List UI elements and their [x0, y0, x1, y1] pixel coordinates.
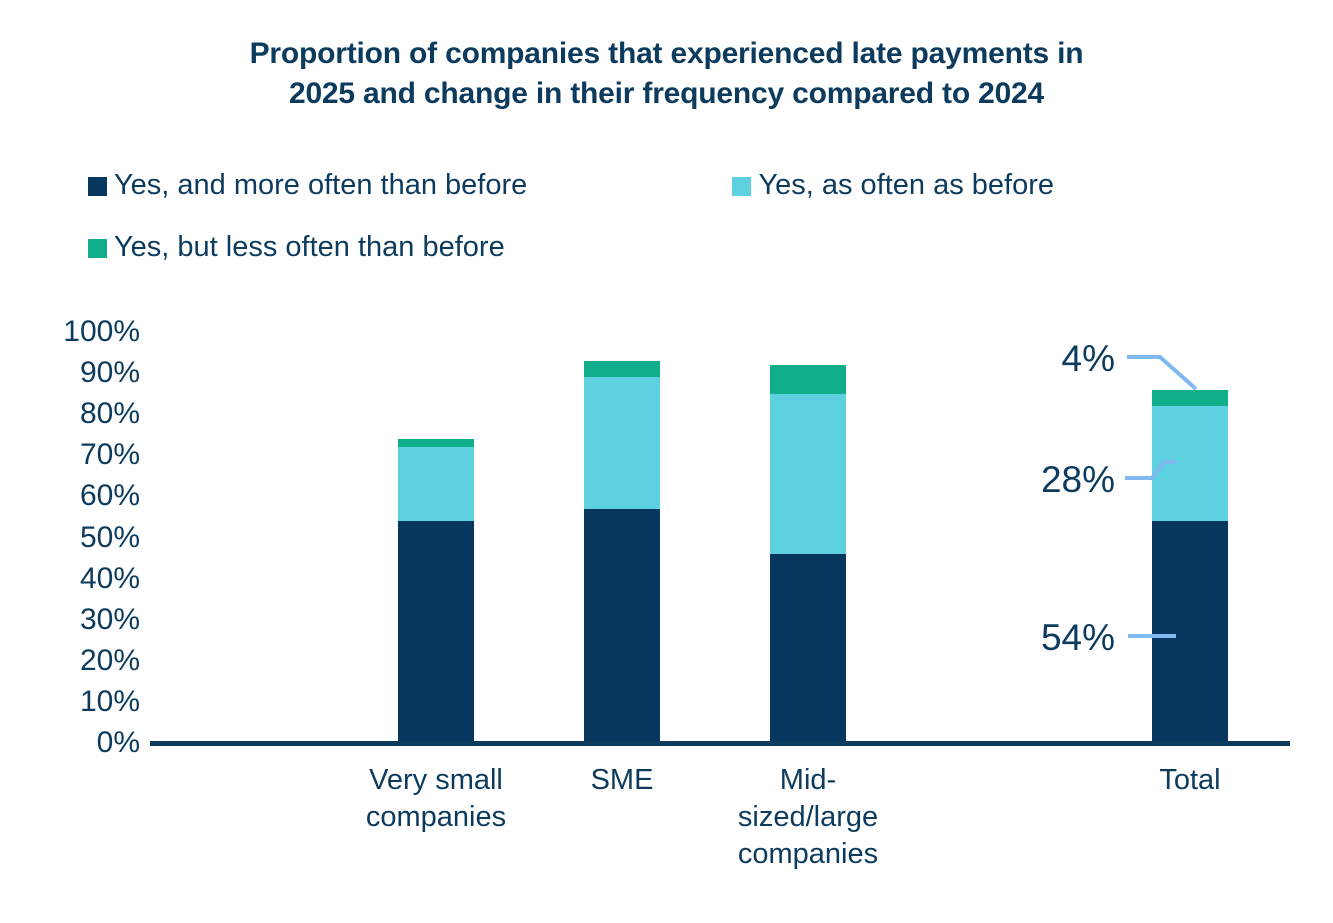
x-label-line: companies — [336, 799, 536, 836]
x-label-very-small-companies: Very small companies — [336, 762, 536, 836]
chart-plot-area: 100% 90% 80% 70% 60% 50% 40% 30% 20% 10%… — [0, 0, 1333, 923]
x-axis-line — [150, 741, 1290, 746]
x-label-total: Total — [1090, 762, 1290, 799]
x-label-line: SME — [522, 762, 722, 799]
bar-segment[interactable] — [770, 365, 846, 394]
bar-segment[interactable] — [398, 447, 474, 521]
y-tick-60: 60% — [20, 481, 140, 511]
y-tick-20: 20% — [20, 646, 140, 676]
bar-segment[interactable] — [398, 521, 474, 743]
x-label-line: companies — [708, 836, 908, 873]
y-tick-70: 70% — [20, 440, 140, 470]
x-label-line: Very small — [336, 762, 536, 799]
y-tick-50: 50% — [20, 523, 140, 553]
x-label-mid-sized-large-companies: Mid- sized/large companies — [708, 762, 908, 873]
y-tick-90: 90% — [20, 358, 140, 388]
x-label-line: Total — [1090, 762, 1290, 799]
callout-less-often: 4% — [920, 339, 1115, 379]
bar-segment[interactable] — [584, 509, 660, 743]
bar-segment[interactable] — [398, 439, 474, 447]
bar-segment[interactable] — [1152, 521, 1228, 743]
y-tick-30: 30% — [20, 605, 140, 635]
bar-segment[interactable] — [1152, 390, 1228, 406]
x-label-sme: SME — [522, 762, 722, 799]
y-axis: 100% 90% 80% 70% 60% 50% 40% 30% 20% 10%… — [15, 0, 140, 923]
bar-very-small-companies[interactable] — [398, 0, 474, 743]
y-tick-100: 100% — [20, 317, 140, 347]
y-tick-10: 10% — [20, 687, 140, 717]
x-label-line: sized/large — [708, 799, 908, 836]
bar-total[interactable] — [1152, 0, 1228, 743]
bar-mid-sized-large-companies[interactable] — [770, 0, 846, 743]
bar-segment[interactable] — [770, 394, 846, 554]
x-label-line: Mid- — [708, 762, 908, 799]
y-tick-40: 40% — [20, 564, 140, 594]
y-tick-80: 80% — [20, 399, 140, 429]
y-tick-0: 0% — [20, 728, 140, 758]
bar-segment[interactable] — [770, 554, 846, 743]
bar-segment[interactable] — [584, 377, 660, 509]
callout-more-often: 54% — [920, 618, 1115, 658]
bar-segment[interactable] — [584, 361, 660, 377]
bar-segment[interactable] — [1152, 406, 1228, 521]
callout-as-often: 28% — [920, 460, 1115, 500]
bar-sme[interactable] — [584, 0, 660, 743]
